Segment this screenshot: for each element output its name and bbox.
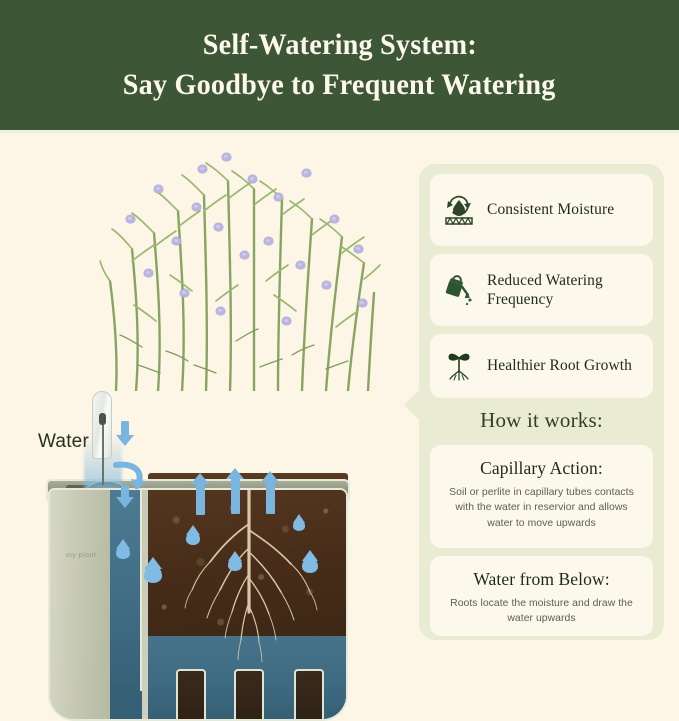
rosemary-flower xyxy=(274,193,283,201)
planter-front-wall: my plant xyxy=(50,490,110,721)
water-droplet-4 xyxy=(228,557,242,571)
moisture-drop-icon xyxy=(444,193,474,227)
rosemary-flower xyxy=(322,281,331,289)
rosemary-flower xyxy=(126,215,135,223)
water-gauge-stem xyxy=(102,423,104,485)
rosemary-flower xyxy=(248,175,257,183)
water-droplet-2 xyxy=(144,565,162,583)
water-gauge-float xyxy=(99,413,106,425)
benefit-card-consistent-moisture[interactable]: Consistent Moisture xyxy=(430,174,653,246)
rosemary-flower xyxy=(154,185,163,193)
rosemary-flower xyxy=(282,317,291,325)
how-card-capillary-action[interactable]: Capillary Action: Soil or perlite in cap… xyxy=(430,445,653,548)
planter-cutaway-illustration: Water xyxy=(0,133,410,679)
rosemary-flower xyxy=(144,269,153,277)
downflow-arrow-1-head xyxy=(116,435,134,446)
title-line-2: Say Goodbye to Frequent Watering xyxy=(123,66,556,104)
how-card-heading: Capillary Action: xyxy=(430,445,653,479)
rosemary-flower xyxy=(198,165,207,173)
capillary-arrow-1-head xyxy=(191,473,209,484)
rosemary-flower xyxy=(216,307,225,315)
rosemary-flower xyxy=(192,203,201,211)
rosemary-flower xyxy=(222,153,231,161)
brand-watermark: my plant xyxy=(66,552,97,560)
header-banner: Self-Watering System: Say Goodbye to Fre… xyxy=(0,0,679,130)
rosemary-flower xyxy=(296,261,305,269)
capillary-arrow-3-shaft xyxy=(266,481,275,514)
reservoir-base-channel xyxy=(108,691,142,721)
title-line-1: Self-Watering System: xyxy=(202,26,476,64)
rosemary-plant xyxy=(96,141,386,391)
benefit-label: Healthier Root Growth xyxy=(487,356,632,375)
how-card-body: Soil or perlite in capillary tubes conta… xyxy=(430,479,653,531)
rosemary-flower xyxy=(240,251,249,259)
how-card-heading: Water from Below: xyxy=(430,556,653,590)
how-card-body: Roots locate the moisture and draw the w… xyxy=(430,590,653,627)
rosemary-foliage-icon xyxy=(96,141,386,391)
water-inlet-arrow-icon xyxy=(112,461,146,489)
capillary-arrow-2-head xyxy=(226,468,244,479)
rosemary-flower xyxy=(354,245,363,253)
capillary-arrow-1-shaft xyxy=(196,483,205,515)
downflow-arrow-2-head xyxy=(116,497,134,508)
info-panel: Consistent Moisture Reduced Watering Fre… xyxy=(419,164,664,640)
benefit-card-healthier-roots[interactable]: Healthier Root Growth xyxy=(430,334,653,398)
root-system-icon xyxy=(148,490,348,721)
reservoir-column xyxy=(108,490,142,691)
rosemary-flower xyxy=(358,299,367,307)
water-droplet-5 xyxy=(293,519,305,531)
watering-can-icon xyxy=(444,273,474,307)
how-card-water-from-below[interactable]: Water from Below: Roots locate the moist… xyxy=(430,556,653,636)
benefit-label: Reduced Watering Frequency xyxy=(487,271,639,310)
seedling-roots-icon xyxy=(444,349,474,383)
capillary-arrow-3-head xyxy=(261,471,279,482)
water-droplet-6 xyxy=(302,557,318,573)
pot-cavity xyxy=(148,490,348,721)
water-label: Water xyxy=(38,431,89,453)
capillary-arrow-2-shaft xyxy=(231,478,240,514)
benefit-label: Consistent Moisture xyxy=(487,200,614,219)
rosemary-flower xyxy=(172,237,181,245)
rosemary-flower xyxy=(264,237,273,245)
water-droplet-3 xyxy=(186,531,200,545)
how-it-works-title: How it works: xyxy=(419,408,664,433)
water-droplet-1 xyxy=(116,545,130,559)
rosemary-flower xyxy=(214,223,223,231)
benefit-card-reduced-watering[interactable]: Reduced Watering Frequency xyxy=(430,254,653,326)
rosemary-flower xyxy=(180,289,189,297)
rosemary-flower xyxy=(330,215,339,223)
rosemary-flower xyxy=(302,169,311,177)
